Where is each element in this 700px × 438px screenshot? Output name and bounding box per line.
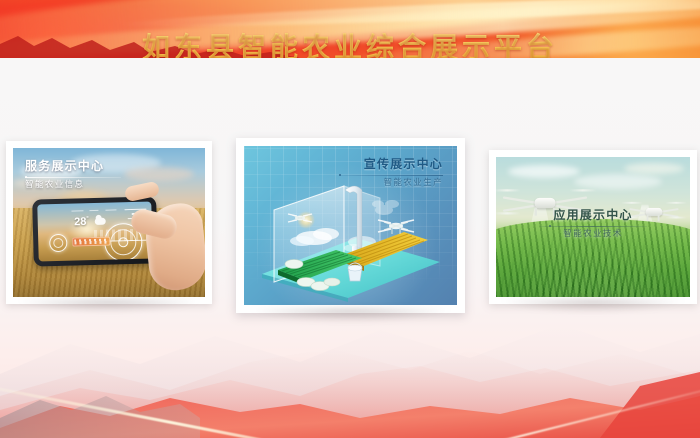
card-application-title: 应用展示中心 — [539, 209, 647, 223]
header-banner: 如东县智能农业综合展示平台 — [0, 0, 700, 58]
drone-rotor — [496, 212, 521, 215]
card-promotion-image: 宣传展示中心 智能农业生产 — [244, 146, 457, 305]
drone-rotor — [665, 217, 687, 219]
card-promotion-caption: 宣传展示中心 智能农业生产 — [339, 158, 443, 188]
hud-tick — [72, 211, 84, 212]
gauge-dial-left-icon — [49, 233, 67, 251]
card-application-subtitle: 智能农业技术 — [539, 229, 647, 239]
drone-leg — [535, 207, 537, 215]
drone-rotor — [569, 189, 597, 192]
caption-divider — [539, 226, 647, 227]
cloud-icon — [95, 218, 106, 225]
crop-rows — [496, 233, 690, 297]
cloud-icon — [124, 167, 194, 181]
hud-tick — [106, 210, 117, 211]
caption-divider — [25, 177, 121, 178]
card-service-image: 28° 服务展示中心 — [13, 148, 205, 297]
card-application-display-center[interactable]: 应用展示中心 智能农业技术 — [489, 150, 697, 304]
card-application-caption: 应用展示中心 智能农业技术 — [539, 209, 647, 239]
finger — [124, 181, 160, 203]
hud-tick — [90, 210, 99, 211]
drone-leg — [658, 215, 659, 221]
card-promotion-subtitle: 智能农业生产 — [339, 178, 443, 188]
drone-body — [646, 208, 663, 216]
hand-holding-phone — [135, 182, 205, 294]
caption-dot — [25, 176, 27, 178]
card-drop-shadow — [501, 299, 684, 313]
drone-rotor — [665, 202, 687, 204]
card-promotion-title: 宣传展示中心 — [339, 158, 443, 172]
page-title: 如东县智能农业综合展示平台 — [0, 27, 700, 58]
card-drop-shadow — [250, 308, 452, 322]
card-service-display-center[interactable]: 28° 服务展示中心 — [6, 141, 212, 304]
card-service-caption: 服务展示中心 智能农业信息 — [25, 160, 121, 190]
card-service-subtitle: 智能农业信息 — [25, 180, 121, 190]
temperature-value: 28 — [74, 215, 87, 227]
card-service-title: 服务展示中心 — [25, 160, 121, 174]
drone-rotor — [621, 202, 643, 204]
caption-dot — [549, 225, 551, 227]
temperature-readout: 28° — [74, 216, 89, 228]
card-drop-shadow — [18, 299, 199, 313]
card-application-image: 应用展示中心 智能农业技术 — [496, 157, 690, 297]
drone-rotor — [496, 189, 521, 192]
degree-symbol: ° — [86, 216, 89, 222]
caption-dot — [339, 174, 341, 176]
platform-landing-page: 如东县智能农业综合展示平台 — [0, 0, 700, 438]
cloud-icon — [624, 163, 684, 174]
caption-divider — [339, 175, 443, 176]
data-strip-indicator — [72, 237, 110, 247]
card-promotion-display-center[interactable]: 宣传展示中心 智能农业生产 — [236, 138, 465, 313]
